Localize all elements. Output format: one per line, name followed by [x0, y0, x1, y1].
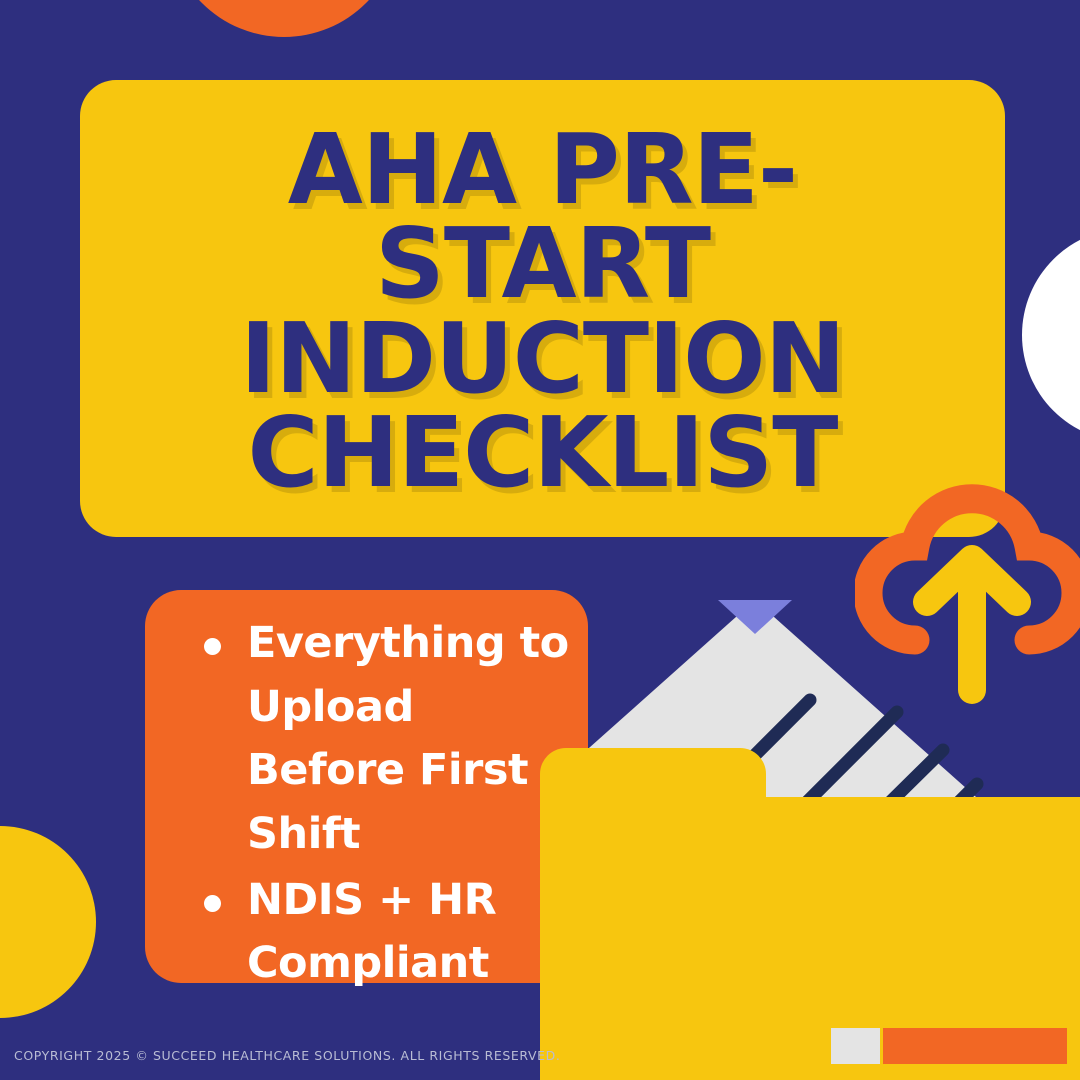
page-title: AHA PRE-START INDUCTION CHECKLIST: [126, 123, 959, 499]
list-item: Everything to Upload Before First Shift: [189, 612, 570, 867]
highlights-list: Everything to Upload Before First Shift …: [189, 612, 570, 996]
document-fold-icon: [718, 600, 792, 634]
list-item-label: NDIS + HR Compliant: [247, 875, 496, 989]
poster-canvas: AHA PRE-START INDUCTION CHECKLIST Everyt…: [0, 0, 1080, 1080]
orange-circle-decoration: [168, 0, 400, 37]
bullet-dot-icon: [204, 895, 221, 912]
white-circle-decoration: [1022, 228, 1080, 442]
list-item: NDIS + HR Compliant: [189, 869, 570, 996]
upload-arrow-icon: [927, 559, 1017, 690]
bullet-dot-icon: [204, 638, 221, 655]
folder-progress-bar: [883, 1028, 1067, 1064]
list-item-label: Everything to Upload Before First Shift: [247, 618, 569, 859]
highlights-card: Everything to Upload Before First Shift …: [145, 590, 588, 983]
copyright-text: COPYRIGHT 2025 © SUCCEED HEALTHCARE SOLU…: [14, 1048, 560, 1063]
yellow-circle-decoration: [0, 826, 96, 1018]
folder-chip-icon: [831, 1028, 880, 1064]
cloud-upload-icon: [855, 455, 1080, 730]
